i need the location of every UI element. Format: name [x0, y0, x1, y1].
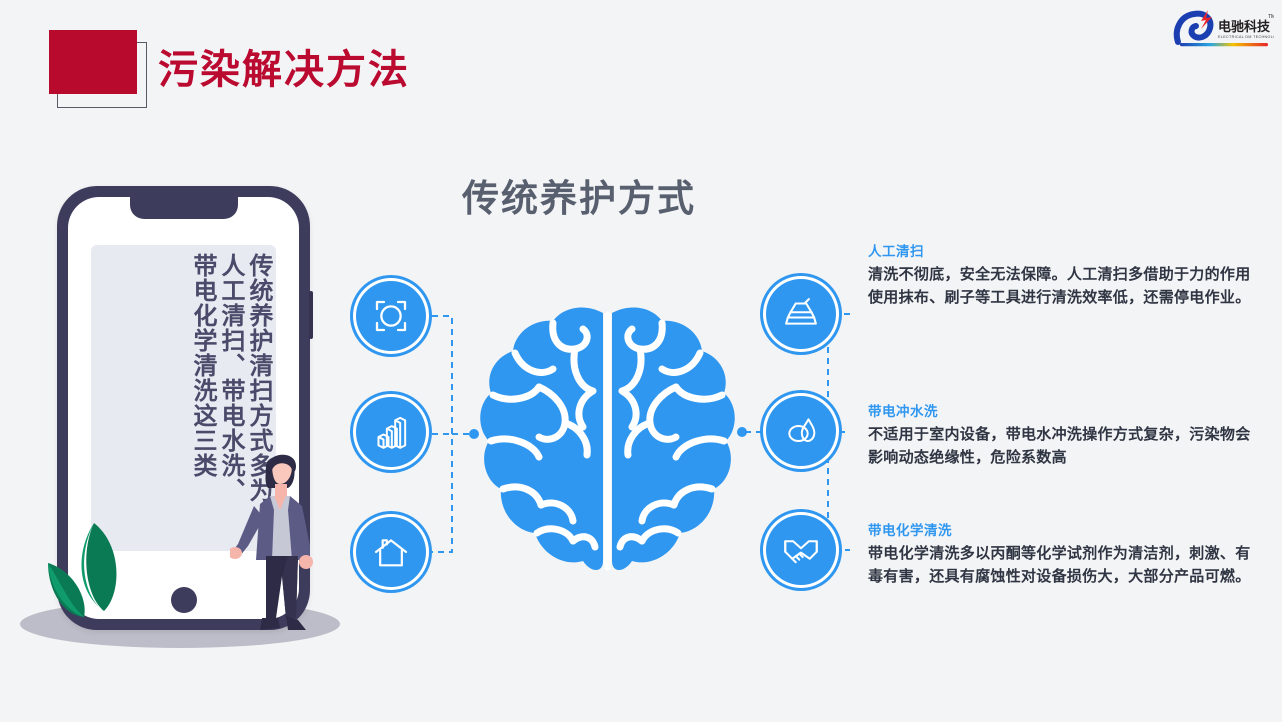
info-block-live-chemical-cleaning: 带电化学清洗 带电化学清洗多以丙酮等化学试剂作为清洁剂，刺激、有毒有害，还具有腐… [868, 519, 1258, 589]
slide-root: 污染解决方法 电驰科技 TM ELECTRICAL DM TECHNOLOGY [0, 0, 1282, 722]
house-icon[interactable] [356, 517, 426, 587]
section-headline: 传统养护方式 [462, 168, 696, 222]
info-block-body: 带电化学清洗多以丙酮等化学试剂作为清洁剂，刺激、有毒有害，还具有腐蚀性对设备损伤… [868, 542, 1258, 589]
focus-frame-icon[interactable] [356, 281, 426, 351]
water-drop-brush-icon[interactable] [766, 396, 836, 466]
insulator-stack-icon[interactable] [766, 279, 836, 349]
handshake-icon[interactable] [766, 515, 836, 585]
svg-text:ELECTRICAL DM TECHNOLOGY: ELECTRICAL DM TECHNOLOGY [1218, 35, 1274, 39]
person-illustration [230, 448, 348, 644]
svg-text:电驰科技: 电驰科技 [1218, 19, 1271, 34]
info-block-live-water-wash: 带电冲水洗 不适用于室内设备，带电水冲洗操作方式复杂，污染物会影响动态绝缘性，危… [868, 400, 1258, 470]
info-block-heading: 人工清扫 [868, 240, 1258, 260]
company-logo: 电驰科技 TM ELECTRICAL DM TECHNOLOGY [1170, 4, 1274, 52]
info-block-heading: 带电化学清洗 [868, 519, 1258, 539]
info-block-body: 清洗不彻底，安全无法保障。人工清扫多借助于力的作用使用抹布、刷子等工具进行清洗效… [868, 263, 1258, 310]
phone-home-button[interactable] [171, 587, 197, 613]
vertical-text-line-3: 带电化学清洗这三类 [190, 253, 214, 478]
brain-icon [475, 295, 740, 585]
info-block-manual-cleaning: 人工清扫 清洗不彻底，安全无法保障。人工清扫多借助于力的作用使用抹布、刷子等工具… [868, 240, 1258, 310]
phone-notch [130, 197, 238, 219]
bar-chart-icon[interactable] [356, 397, 426, 467]
info-block-body: 不适用于室内设备，带电水冲洗操作方式复杂，污染物会影响动态绝缘性，危险系数高 [868, 423, 1258, 470]
info-block-heading: 带电冲水洗 [868, 400, 1258, 420]
plant-leaves-decoration [18, 505, 148, 635]
title-badge [49, 30, 137, 94]
page-title: 污染解决方法 [158, 37, 410, 95]
svg-text:TM: TM [1268, 14, 1274, 20]
phone-side-button[interactable] [309, 291, 313, 339]
